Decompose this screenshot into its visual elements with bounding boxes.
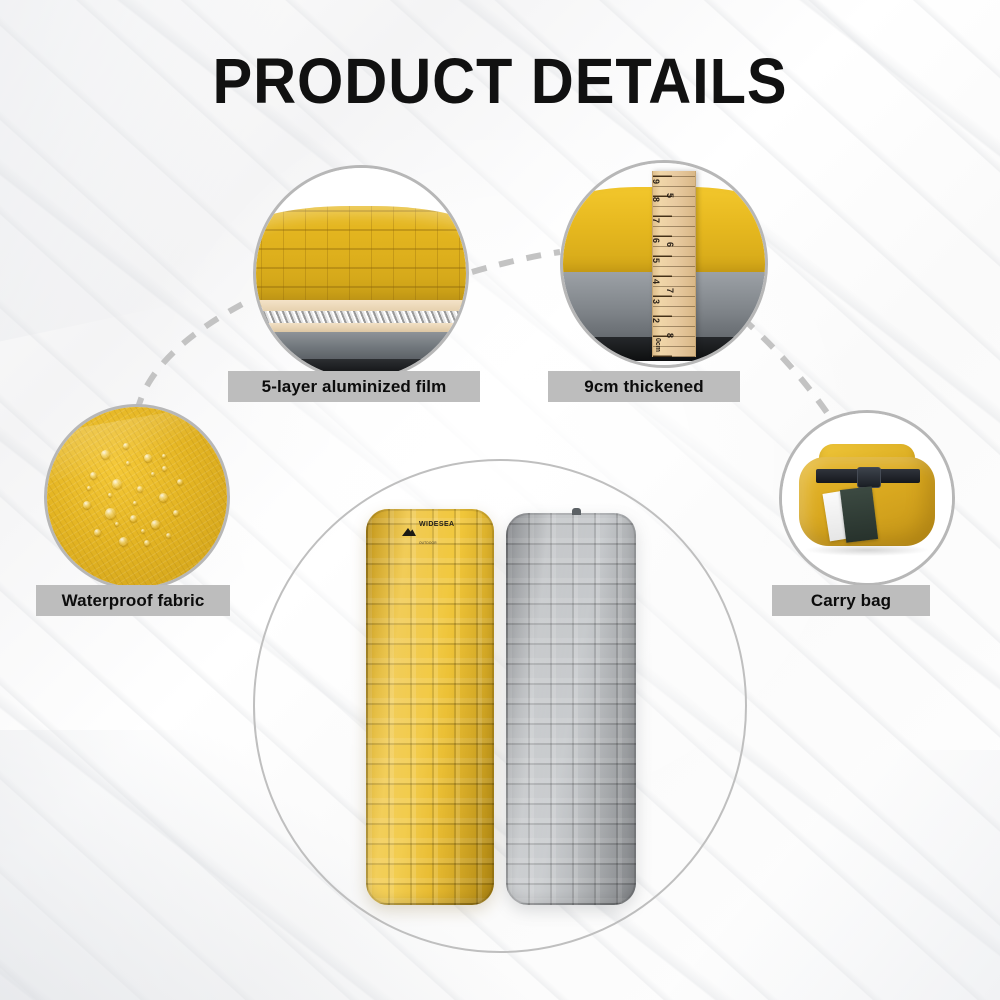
pad-edge xyxy=(366,509,494,905)
water-drop xyxy=(144,454,152,462)
film-layer-quilted-top xyxy=(253,206,469,307)
water-droplets-icon xyxy=(47,407,227,587)
feature-circle-film[interactable] xyxy=(253,165,469,381)
ruler-number: 3 xyxy=(652,299,661,304)
mountain-peak-icon xyxy=(402,527,416,536)
brand-text-block: WIDESEA OUTDOOR xyxy=(419,513,474,549)
pad-valve xyxy=(572,508,581,515)
ruler-number-inch: 8 xyxy=(665,333,675,338)
page-title: PRODUCT DETAILS xyxy=(35,44,965,118)
water-drop xyxy=(112,479,122,489)
pad-edge xyxy=(506,513,636,905)
water-drop xyxy=(159,493,168,502)
ruler-number: 5 xyxy=(652,258,661,263)
ruler-number: 2 xyxy=(652,318,661,323)
film-layer-grey-base xyxy=(253,332,469,359)
dry-bag-icon xyxy=(782,413,952,583)
water-drop xyxy=(123,443,129,449)
water-drop xyxy=(130,515,137,522)
ruler-number: 4 xyxy=(652,279,661,284)
feature-circle-thickness[interactable]: 9 8 7 6 5 4 3 2 0cm 5 6 7 8 xyxy=(560,160,768,368)
water-drop xyxy=(83,501,91,509)
ruler-number: 9 xyxy=(652,179,661,184)
brand-name: WIDESEA xyxy=(419,521,454,528)
film-layer-cream-upper xyxy=(253,300,469,311)
film-layer-cream-lower xyxy=(253,323,469,332)
main-product-circle xyxy=(253,459,747,953)
label-waterproof-fabric: Waterproof fabric xyxy=(36,585,230,616)
ruler-number: 7 xyxy=(652,218,661,223)
label-carry-bag: Carry bag xyxy=(772,585,930,616)
water-drop xyxy=(166,533,171,538)
ruler-icon: 9 8 7 6 5 4 3 2 0cm 5 6 7 8 xyxy=(652,171,696,357)
film-layer-aluminized-foil xyxy=(253,311,469,324)
label-5-layer-aluminized-film: 5-layer aluminized film xyxy=(228,371,480,402)
product-yellow-sleeping-pad[interactable] xyxy=(366,509,494,905)
feature-circle-carrybag[interactable] xyxy=(779,410,955,586)
ruler-number: 8 xyxy=(652,197,661,202)
thickness-photo: 9 8 7 6 5 4 3 2 0cm 5 6 7 8 xyxy=(563,163,765,365)
water-drop xyxy=(162,454,166,458)
water-drop xyxy=(90,472,97,479)
bag-buckle xyxy=(857,467,881,489)
bag-shadow xyxy=(806,544,928,556)
brand-tagline: OUTDOOR xyxy=(419,541,437,545)
brand-logo: WIDESEA OUTDOOR xyxy=(402,513,474,549)
feature-circle-waterproof[interactable] xyxy=(44,404,230,590)
bag-hangtag-green xyxy=(840,486,878,542)
water-drop xyxy=(105,508,116,519)
ruler-number-inch: 6 xyxy=(665,242,675,247)
product-details-infographic: PRODUCT DETAILS 9 8 7 6 xyxy=(0,0,1000,1000)
ruler-zero-label: 0cm xyxy=(654,338,661,352)
label-9cm-thickened: 9cm thickened xyxy=(548,371,740,402)
water-drop xyxy=(177,479,183,485)
ruler-number: 6 xyxy=(652,238,661,243)
water-drop xyxy=(173,510,179,516)
product-grey-sleeping-pad[interactable] xyxy=(506,513,636,905)
water-drop xyxy=(87,486,91,490)
layered-cross-section-icon xyxy=(256,168,466,378)
water-drop xyxy=(119,537,128,546)
ruler-number-inch: 7 xyxy=(665,288,675,293)
ruler-number-inch: 5 xyxy=(665,193,675,198)
